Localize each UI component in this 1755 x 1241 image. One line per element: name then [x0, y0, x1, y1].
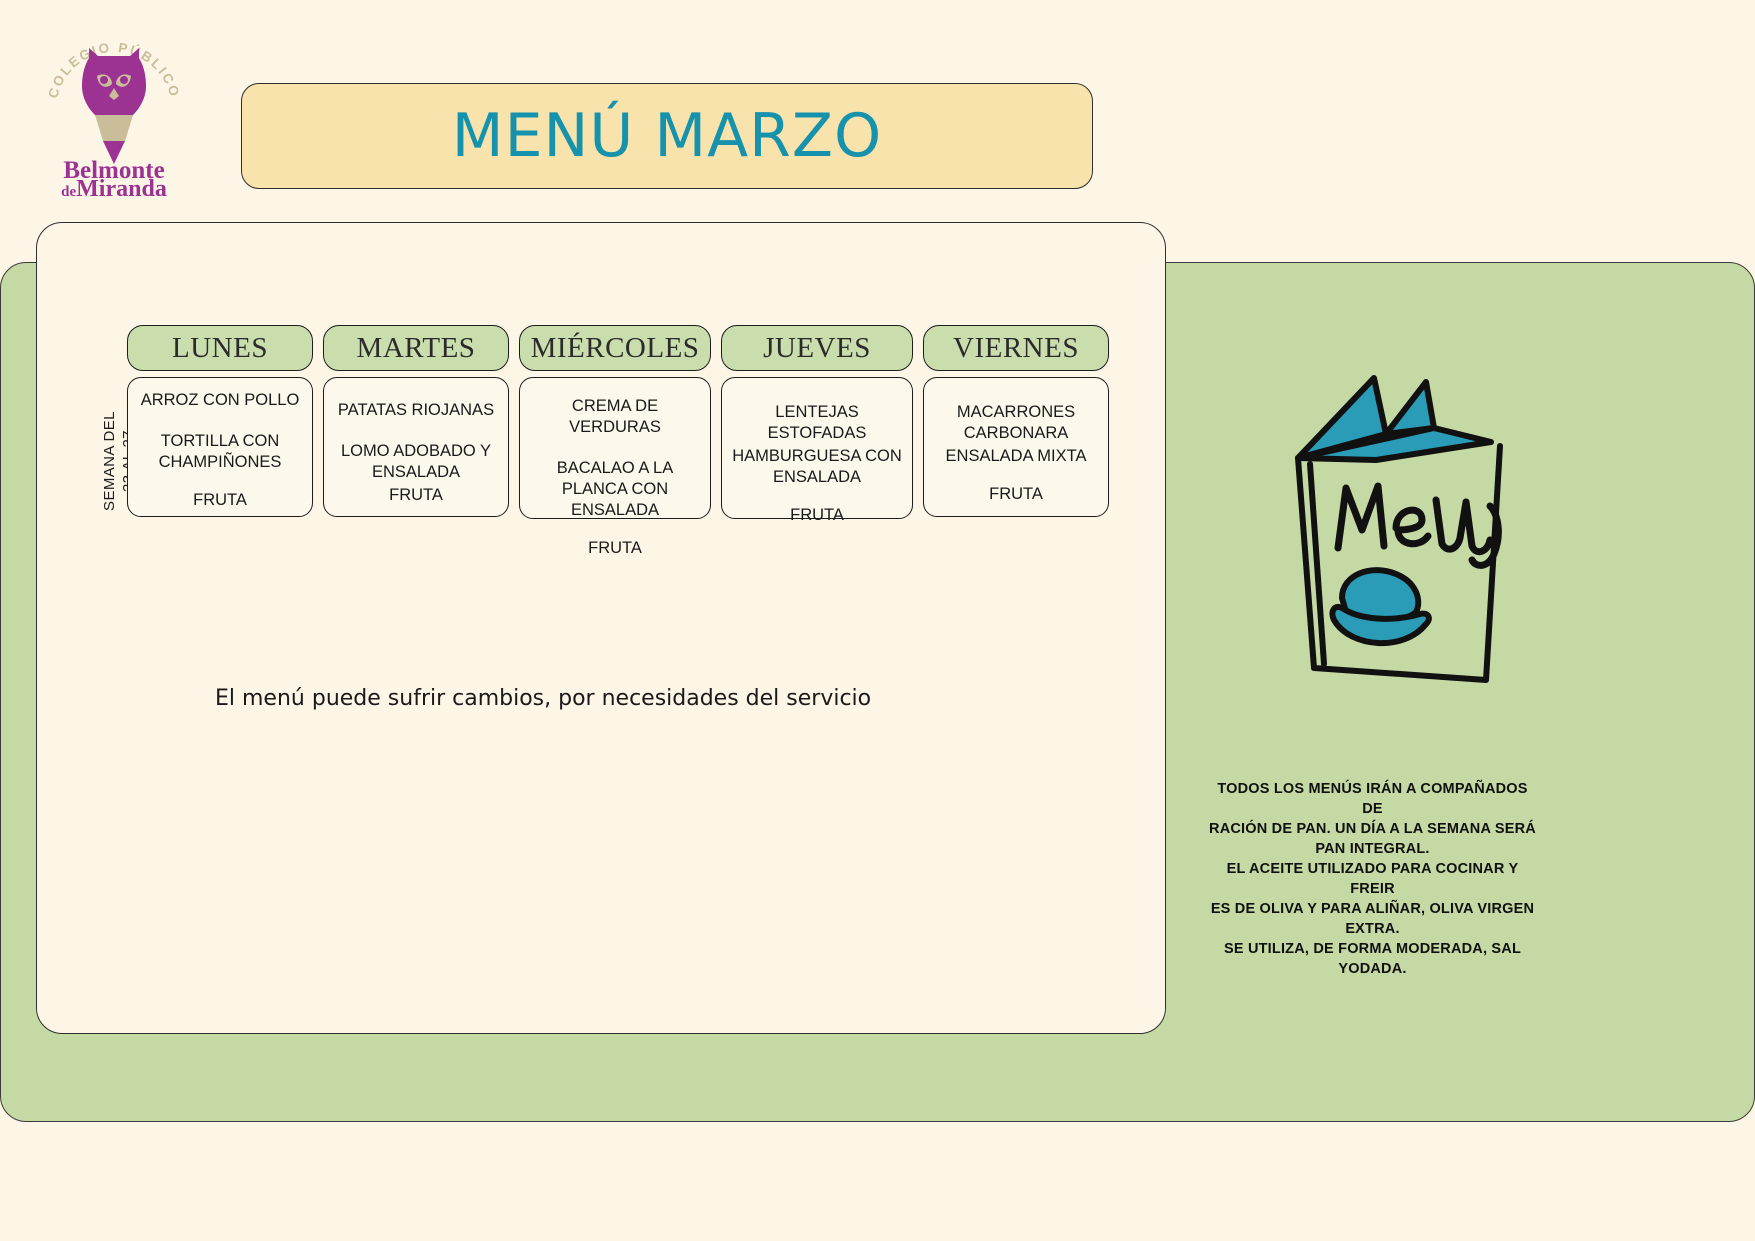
illustration-handwritten-word — [1338, 486, 1498, 565]
day-column-lunes: LUNES ARROZ CON POLLO TORTILLA CON CHAMP… — [127, 325, 313, 517]
footer-note-line: PAN INTEGRAL. — [1205, 839, 1540, 859]
footer-note: TODOS LOS MENÚS IRÁN A COMPAÑADOS DE RAC… — [1205, 779, 1540, 979]
day-column-martes: MARTES PATATAS RIOJANAS LOMO ADOBADO Y E… — [323, 325, 509, 517]
menu-card-miercoles: CREMA DE VERDURAS BACALAO A LA PLANCA CO… — [519, 377, 711, 519]
day-column-jueves: JUEVES LENTEJAS ESTOFADAS HAMBURGUESA CO… — [721, 325, 913, 519]
title-banner: MENÚ MARZO — [241, 83, 1093, 189]
dish-item: BACALAO A LA PLANCA CON ENSALADA — [528, 458, 702, 521]
dish-item: HAMBURGUESA CON ENSALADA — [730, 446, 904, 488]
footer-note-line: TODOS LOS MENÚS IRÁN A COMPAÑADOS DE — [1205, 779, 1540, 819]
days-grid: LUNES ARROZ CON POLLO TORTILLA CON CHAMP… — [127, 325, 1117, 519]
day-header-martes: MARTES — [323, 325, 509, 371]
day-column-viernes: VIERNES MACARRONES CARBONARA ENSALADA MI… — [923, 325, 1109, 517]
footer-note-line: EXTRA. — [1205, 919, 1540, 939]
dish-item: LOMO ADOBADO Y ENSALADA — [332, 441, 500, 483]
dish-item: LENTEJAS ESTOFADAS — [730, 402, 904, 444]
menu-card-lunes: ARROZ CON POLLO TORTILLA CON CHAMPIÑONES… — [127, 377, 313, 517]
dish-item: MACARRONES CARBONARA — [932, 402, 1100, 444]
day-header-viernes: VIERNES — [923, 325, 1109, 371]
day-header-miercoles: MIÉRCOLES — [519, 325, 711, 371]
dish-item: ENSALADA MIXTA — [946, 446, 1087, 467]
dish-item: FRUTA — [588, 538, 642, 559]
footer-note-line: RACIÓN DE PAN. UN DÍA A LA SEMANA SERÁ — [1205, 819, 1540, 839]
menu-card-martes: PATATAS RIOJANAS LOMO ADOBADO Y ENSALADA… — [323, 377, 509, 517]
logo-name-miranda: deMiranda — [61, 176, 167, 196]
day-column-miercoles: MIÉRCOLES CREMA DE VERDURAS BACALAO A LA… — [519, 325, 711, 519]
footer-note-line: YODADA. — [1205, 959, 1540, 979]
dish-item: CREMA DE VERDURAS — [528, 396, 702, 438]
day-header-jueves: JUEVES — [721, 325, 913, 371]
dish-item: ARROZ CON POLLO — [141, 390, 300, 411]
dish-item: FRUTA — [193, 490, 247, 511]
menu-card-illustration — [1276, 368, 1528, 708]
menu-card-viernes: MACARRONES CARBONARA ENSALADA MIXTA FRUT… — [923, 377, 1109, 517]
illustration-teal-flaps — [1298, 378, 1491, 460]
page-title: MENÚ MARZO — [452, 101, 882, 171]
illustration-bowl — [1332, 570, 1428, 643]
day-header-lunes: LUNES — [127, 325, 313, 371]
dish-item: PATATAS RIOJANAS — [338, 400, 494, 421]
owl-pencil-icon — [82, 48, 146, 164]
footer-note-line: EL ACEITE UTILIZADO PARA COCINAR Y FREIR — [1205, 859, 1540, 899]
dish-item: FRUTA — [790, 505, 844, 526]
dish-item: TORTILLA CON CHAMPIÑONES — [136, 431, 304, 473]
footer-note-line: SE UTILIZA, DE FORMA MODERADA, SAL — [1205, 939, 1540, 959]
week-label-line1: SEMANA DEL — [101, 411, 118, 511]
menu-card-jueves: LENTEJAS ESTOFADAS HAMBURGUESA CON ENSAL… — [721, 377, 913, 519]
dish-item: FRUTA — [989, 484, 1043, 505]
dish-item: FRUTA — [389, 485, 443, 506]
menu-change-disclaimer: El menú puede sufrir cambios, por necesi… — [215, 686, 871, 711]
school-logo: COLEGIO PÚBLICO Belmonte deMiranda — [40, 14, 188, 196]
footer-note-line: ES DE OLIVA Y PARA ALIÑAR, OLIVA VIRGEN — [1205, 899, 1540, 919]
